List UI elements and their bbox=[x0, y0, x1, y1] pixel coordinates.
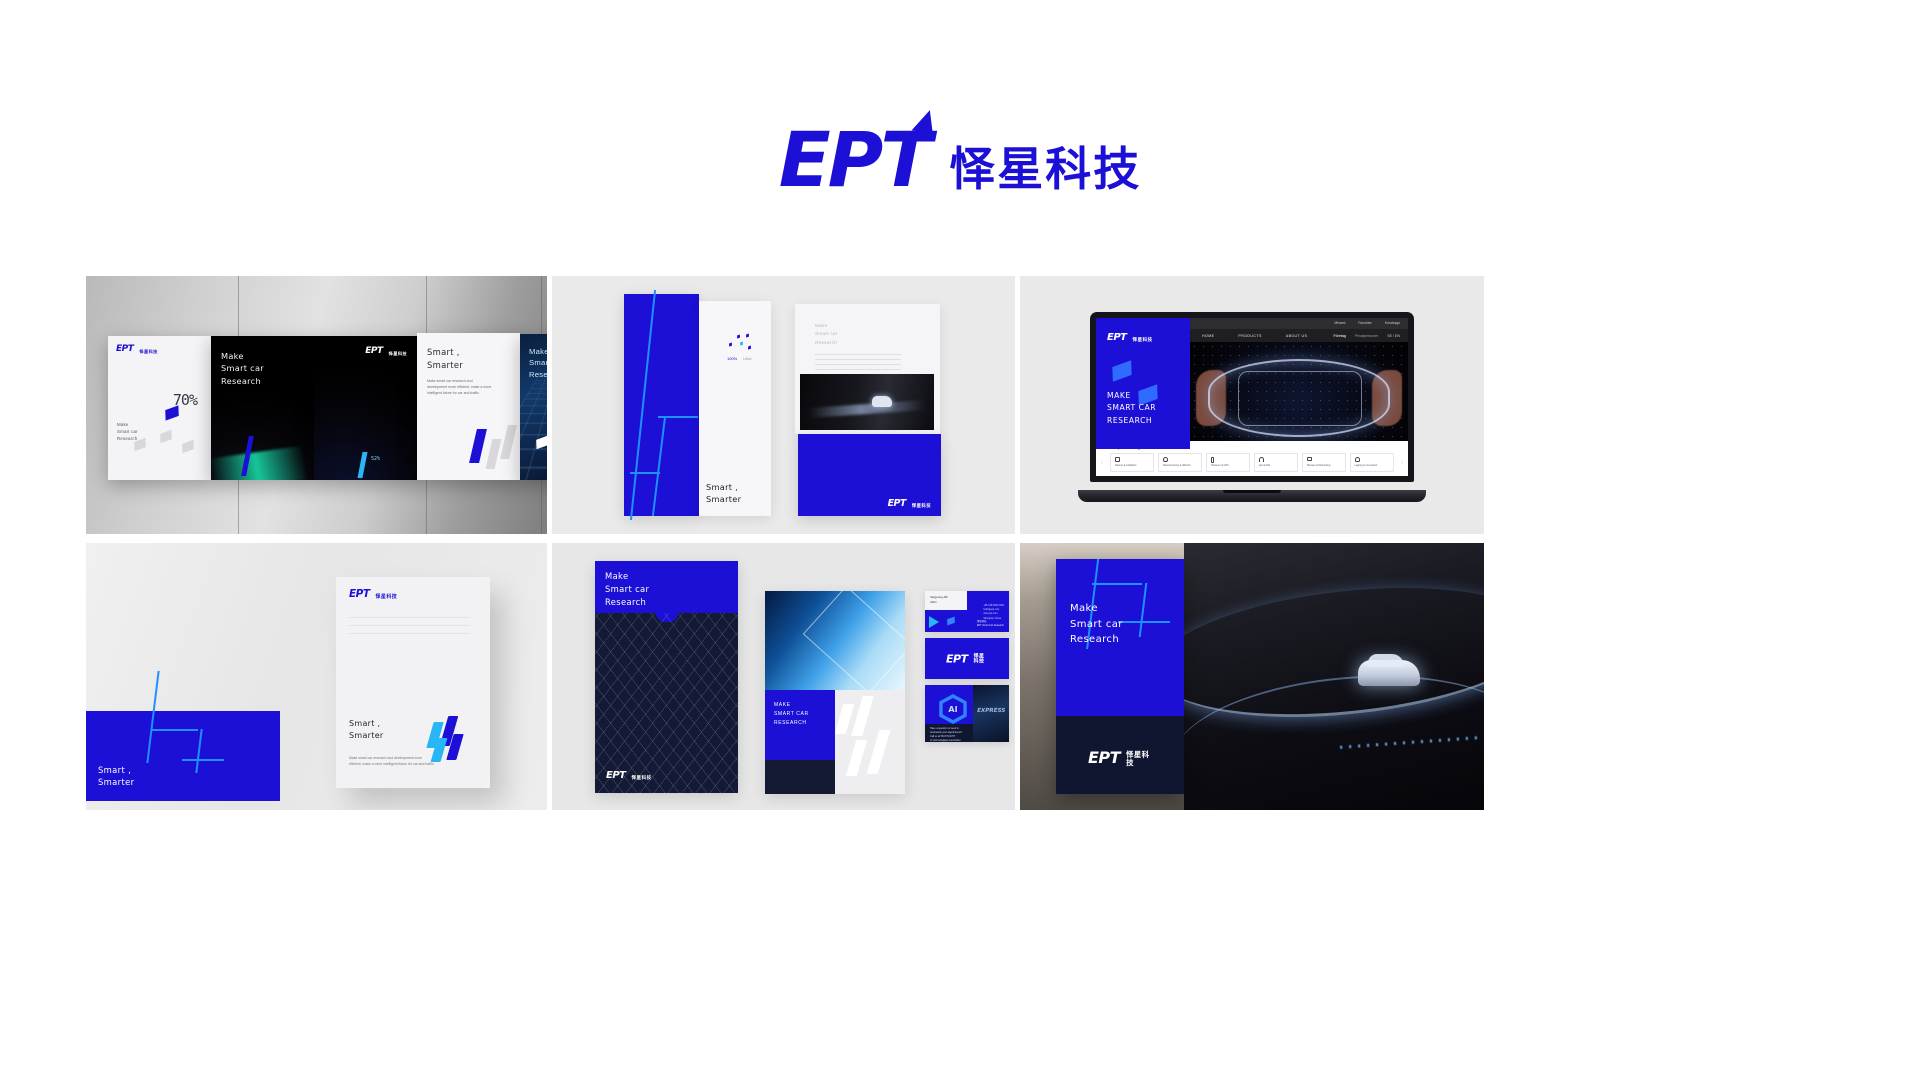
blue-billboard: Make Smart car Research EPT怿星科技 bbox=[1056, 559, 1184, 794]
caption-primary: 100% bbox=[727, 356, 737, 361]
cyan-line bbox=[1118, 621, 1170, 623]
carousel-next-icon[interactable]: › bbox=[1401, 460, 1403, 466]
utility-link[interactable]: Kundvagn bbox=[1385, 321, 1400, 325]
nav-link-home[interactable]: HOME bbox=[1202, 334, 1214, 338]
ept-logo-small: EPT怿星科技 bbox=[116, 345, 158, 354]
headphones-icon bbox=[1259, 457, 1264, 462]
road-photo-insert bbox=[800, 374, 934, 430]
cyan-line bbox=[630, 290, 656, 520]
business-card-front: Vargering AB CEO +86 138 0000 0000 hello… bbox=[925, 591, 1009, 632]
card-contact-block: Have a question or need to reschedule yo… bbox=[925, 724, 977, 742]
panel-showroom-billboard: Make Smart car Research EPT怿星科技 bbox=[1020, 543, 1484, 810]
panel-stationery: 100% Ultra Smart , Smarter Make Smart ca… bbox=[552, 276, 1015, 534]
brand-header: EPT 怿星科技 bbox=[0, 122, 1920, 198]
ept-wordmark: EPT bbox=[779, 122, 935, 198]
poster-dark-logo: EPT怿星科技 52% bbox=[314, 336, 417, 480]
diamond-shape bbox=[947, 616, 955, 625]
grey-bar-shape bbox=[500, 425, 517, 459]
category-card[interactable]: Ljud & bild bbox=[1254, 453, 1298, 472]
ept-chinese-name: 怿星科技 bbox=[949, 146, 1141, 198]
blue-poster-sheet bbox=[624, 294, 699, 516]
laptop-icon bbox=[1115, 457, 1120, 462]
category-label: Lagring & minneskort bbox=[1355, 465, 1392, 468]
blue-bar-shape bbox=[469, 429, 487, 463]
laptop-base bbox=[1078, 490, 1426, 502]
slash-graphic bbox=[430, 716, 474, 762]
card-name-block: Vargering AB CEO bbox=[930, 595, 947, 604]
brochure-white-block bbox=[835, 690, 905, 794]
brochure-dark-block bbox=[765, 760, 835, 794]
brochure-cover: MAKE SMART CAR RESEARCH bbox=[765, 591, 905, 794]
letterhead-sheet: EPT怿星科技 Smart , Smarter Make smart car r… bbox=[336, 577, 490, 788]
sheet-headline: Smart , Smarter bbox=[706, 482, 741, 506]
printer-icon bbox=[1307, 457, 1312, 461]
ept-logo-small: EPT怿星科技 bbox=[365, 347, 407, 356]
panel-poster-wall: EPT怿星科技 70% Make Smart car Research Make… bbox=[86, 276, 547, 534]
utility-link[interactable]: Minami bbox=[1334, 321, 1345, 325]
folder-headline: Make Smart car Research bbox=[605, 570, 649, 608]
category-card[interactable]: Lagring & minneskort bbox=[1350, 453, 1394, 472]
text-placeholder-lines bbox=[349, 617, 469, 641]
nav-meta-label[interactable]: Företag bbox=[1333, 334, 1345, 338]
poster-headline: Make Smart car Research bbox=[221, 350, 264, 387]
ai-badge-card: AI Have a question or need to reschedule… bbox=[925, 685, 1009, 742]
category-card[interactable]: Telefoner & GPS bbox=[1206, 453, 1250, 472]
arrow-tick-icon bbox=[912, 109, 941, 134]
brochure-headline: MAKE SMART CAR RESEARCH bbox=[774, 701, 809, 728]
site-hero-sidebar: EPT怿星科技 MAKE SMART CAR RESEARCH bbox=[1096, 318, 1190, 449]
mockup-grid: EPT怿星科技 70% Make Smart car Research Make… bbox=[86, 276, 1484, 810]
category-label: Datorutrustning & tillbehör bbox=[1163, 465, 1200, 468]
diamond-shape bbox=[160, 430, 172, 444]
poster-body-copy: Make smart car research and development … bbox=[427, 379, 493, 397]
grid-texture bbox=[520, 371, 547, 480]
category-card[interactable]: Datorer & surfplattor bbox=[1110, 453, 1154, 472]
abstract-tech-image bbox=[765, 591, 905, 690]
caption-secondary: Ultra bbox=[743, 356, 751, 361]
laptop-lid: Minami Favoriter Kundvagn HOME PRODUCTS … bbox=[1090, 312, 1414, 482]
business-card-back: EPT怿星科技 bbox=[925, 638, 1009, 679]
category-card[interactable]: Skrivare & förbrukning bbox=[1302, 453, 1346, 472]
utility-link[interactable]: Favoriter bbox=[1358, 321, 1371, 325]
nav-link-products[interactable]: PRODUCTS bbox=[1238, 334, 1261, 338]
card-contact-list: +86 138 0000 0000 hello@ept.com www.ept.… bbox=[983, 604, 1004, 621]
road-light-trail bbox=[808, 400, 926, 418]
panel-collateral: Make Smart car Research EPT怿星科技 MAKE SMA… bbox=[552, 543, 1015, 810]
wireframe-car-graphic bbox=[1208, 359, 1390, 437]
brochure-blue-block: MAKE SMART CAR RESEARCH bbox=[765, 690, 835, 760]
letterhead-headline: Smart , Smarter bbox=[349, 718, 384, 742]
brand-logo-lockup: EPT 怿星科技 bbox=[779, 122, 1141, 198]
diamond-shape bbox=[1112, 360, 1131, 382]
road-hero-photo bbox=[1184, 543, 1484, 810]
poster-subtitle: Make Smart car Research bbox=[117, 422, 138, 442]
ept-logo-small: EPT怿星科技 bbox=[349, 589, 397, 600]
light-streak bbox=[211, 446, 307, 480]
photo-watermark: EXPRESS bbox=[976, 708, 1005, 714]
nav-links: HOME PRODUCTS ABOUT US bbox=[1202, 334, 1307, 338]
business-card-stack: Vargering AB CEO +86 138 0000 0000 hello… bbox=[925, 591, 1009, 794]
mesh-texture bbox=[595, 613, 738, 793]
ept-logo-small: EPT怿星科技 bbox=[1107, 333, 1152, 343]
poster-smart-smarter: Smart , Smarter Make smart car research … bbox=[417, 333, 520, 480]
cyan-line bbox=[195, 729, 202, 773]
diamond-shape bbox=[182, 440, 194, 454]
cyan-line bbox=[152, 729, 198, 731]
category-label: Telefoner & GPS bbox=[1211, 465, 1248, 468]
ept-logo-small: EPT怿星科技 bbox=[1088, 750, 1152, 766]
datacenter-photo: EXPRESS bbox=[973, 685, 1009, 742]
diamond-shape bbox=[165, 405, 179, 420]
poster-headline: Make Smart car Research bbox=[529, 346, 547, 380]
nav-link-about[interactable]: ABOUT US bbox=[1286, 334, 1308, 338]
nav-meta: Företag Privatpersoner SE / EN bbox=[1333, 334, 1400, 338]
grey-bar-shape bbox=[486, 439, 502, 469]
diamond-dot-cluster bbox=[727, 333, 757, 351]
blue-wall-banner: Smart , Smarter bbox=[86, 711, 280, 801]
category-label: Skrivare & förbrukning bbox=[1307, 465, 1344, 468]
card-white-block: Vargering AB CEO bbox=[925, 591, 967, 610]
cyan-line bbox=[658, 416, 698, 418]
cyan-line bbox=[1092, 583, 1142, 585]
hero-heading: MAKE SMART CAR RESEARCH bbox=[1107, 390, 1156, 427]
white-poster-sheet: 100% Ultra Smart , Smarter bbox=[699, 301, 771, 516]
phone-icon bbox=[1211, 457, 1214, 463]
blue-envelope: EPT怿星科技 bbox=[798, 434, 941, 516]
poster-percent: EPT怿星科技 70% Make Smart car Research bbox=[108, 336, 211, 480]
ept-logo-small: EPT怿星科技 bbox=[946, 653, 988, 664]
poster-tech-city: Make Smart car Research EPT怿星科技 bbox=[520, 334, 547, 480]
utility-links: Minami Favoriter Kundvagn bbox=[1334, 321, 1400, 325]
category-card[interactable]: Datorutrustning & tillbehör bbox=[1158, 453, 1202, 472]
cyan-line bbox=[630, 472, 660, 474]
ept-logo-small: EPT怿星科技 bbox=[606, 771, 651, 781]
language-switcher[interactable]: SE / EN bbox=[1387, 334, 1400, 338]
billboard-headline: Make Smart car Research bbox=[1070, 601, 1123, 648]
car-silhouette bbox=[1358, 660, 1420, 686]
cyan-line bbox=[182, 759, 224, 761]
poster-headline: Smart , Smarter bbox=[427, 346, 463, 371]
panel-website-laptop: Minami Favoriter Kundvagn HOME PRODUCTS … bbox=[1020, 276, 1484, 534]
hexagon-ai-badge: AI bbox=[937, 694, 969, 724]
cyan-line bbox=[146, 671, 159, 763]
banner-headline: Smart , Smarter bbox=[98, 764, 134, 789]
cyan-line bbox=[652, 416, 666, 516]
presentation-folder: Make Smart car Research EPT怿星科技 bbox=[595, 561, 738, 793]
mouse-icon bbox=[1163, 457, 1168, 462]
percent-label: 52% bbox=[371, 456, 380, 462]
storage-icon bbox=[1355, 457, 1360, 462]
poster-make-smart-car: Make Smart car Research bbox=[211, 336, 314, 480]
site-hero-image bbox=[1190, 342, 1408, 449]
laptop-mockup: Minami Favoriter Kundvagn HOME PRODUCTS … bbox=[1078, 312, 1426, 502]
category-label: Datorer & surfplattor bbox=[1115, 465, 1152, 468]
letterhead-body-copy: Make smart car research and development … bbox=[349, 756, 435, 768]
ept-logo-small: EPT怿星科技 bbox=[888, 499, 931, 508]
cyan-line bbox=[1139, 583, 1148, 637]
page-headline: Make Smart car Research bbox=[815, 322, 838, 347]
cyan-bar-shape bbox=[357, 452, 367, 478]
card-footer: 怿星科技 EPT Smart Car Research bbox=[977, 620, 1004, 628]
carousel-prev-icon[interactable]: ‹ bbox=[1101, 460, 1103, 466]
category-label: Ljud & bild bbox=[1259, 465, 1296, 468]
card-contact-text: Have a question or need to reschedule yo… bbox=[930, 727, 962, 742]
triangle-shape bbox=[929, 616, 939, 628]
panel-banner-letterhead: Smart , Smarter EPT怿星科技 Smart , Smarter … bbox=[86, 543, 547, 810]
car-silhouette bbox=[872, 396, 892, 407]
category-card-row: Datorer & surfplattor Datorutrustning & … bbox=[1110, 453, 1394, 472]
envelope-flap bbox=[798, 434, 941, 448]
laptop-screen: Minami Favoriter Kundvagn HOME PRODUCTS … bbox=[1096, 318, 1408, 476]
ai-label: AI bbox=[937, 694, 969, 724]
nav-meta-value[interactable]: Privatpersoner bbox=[1355, 334, 1378, 338]
